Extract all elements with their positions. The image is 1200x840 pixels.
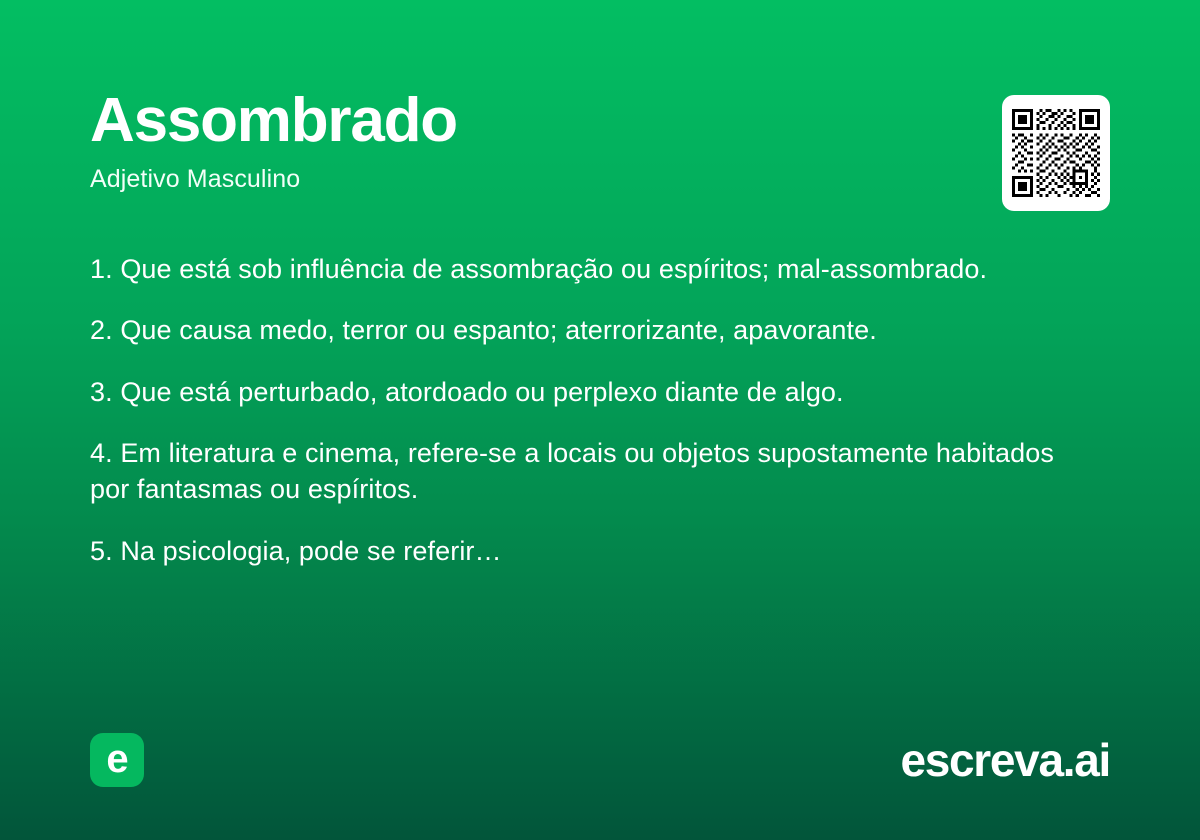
definition-item: 3. Que está perturbado, atordoado ou per… [90, 375, 1100, 411]
qr-code-card[interactable] [1002, 95, 1110, 211]
word-definition-card: Assombrado Adjetivo Masculino [0, 0, 1200, 840]
word-class-label: Adjetivo Masculino [90, 166, 1110, 194]
logo-letter: e [106, 739, 127, 779]
card-footer: e escreva.ai [90, 732, 1110, 788]
page-title: Assombrado [90, 90, 1110, 152]
escreva-logo-icon: e [90, 733, 144, 787]
qr-code-icon [1012, 109, 1100, 197]
definition-item: 1. Que está sob influência de assombraçã… [90, 252, 1100, 288]
definition-item: 5. Na psicologia, pode se referir… [90, 534, 1100, 570]
definition-list: 1. Que está sob influência de assombraçã… [90, 252, 1100, 570]
brand-wordmark: escreva.ai [900, 737, 1110, 783]
card-header: Assombrado Adjetivo Masculino [90, 90, 1110, 194]
definition-item: 4. Em literatura e cinema, refere-se a l… [90, 436, 1100, 507]
definition-item: 2. Que causa medo, terror ou espanto; at… [90, 313, 1100, 349]
